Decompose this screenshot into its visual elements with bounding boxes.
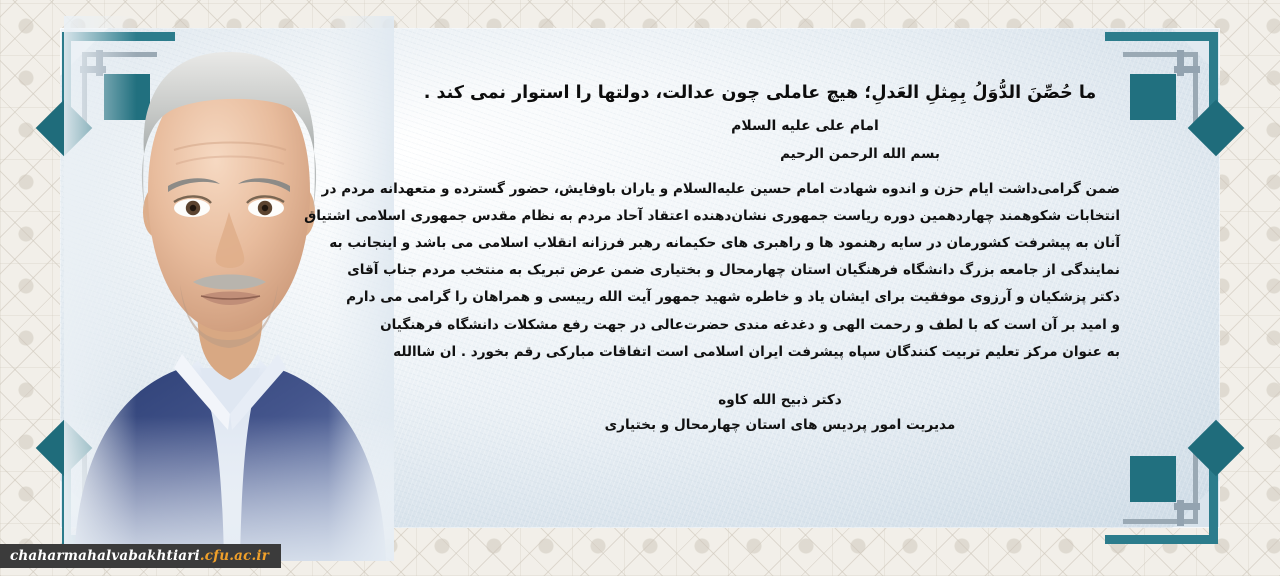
hadith-attribution: امام علی علیه السلام xyxy=(400,118,1120,134)
message-line: ضمن گرامی‌داشت ایام حزن و اندوه شهادت ام… xyxy=(400,176,1120,203)
message-line: نمایندگی از جامعه بزرگ دانشگاه فرهنگیان … xyxy=(400,257,1120,284)
message-body: ضمن گرامی‌داشت ایام حزن و اندوه شهادت ام… xyxy=(400,176,1120,366)
corner-bar-horizontal xyxy=(1174,503,1200,510)
hadith-quote: ما حُصِّنَ الدُّوَلُ بِمِثلِ العَدلِ؛ هی… xyxy=(400,82,1120,106)
website-url-badge[interactable]: chaharmahalvabakhtiari.cfu.ac.ir xyxy=(0,544,281,568)
message-line: و امید بر آن است که با لطف و رحمت الهی و… xyxy=(400,312,1120,339)
message-line: آنان به پیشرفت کشورمان در سایه رهنمود ها… xyxy=(400,230,1120,257)
corner-square xyxy=(1130,74,1176,120)
banner-root: ما حُصِّنَ الدُّوَلُ بِمِثلِ العَدلِ؛ هی… xyxy=(0,0,1280,576)
message-line: به عنوان مرکز تعلیم تربیت کنندگان سپاه پ… xyxy=(400,339,1120,366)
signature-block: دکتر ذبیح الله کاوه مدیریت امور پردیس ها… xyxy=(400,388,1120,438)
url-tld: .cfu.ac.ir xyxy=(200,548,269,564)
portrait-photo xyxy=(64,16,394,561)
message-line: دکتر پزشکیان و آرزوی موفقیت برای ایشان ی… xyxy=(400,284,1120,311)
signatory-name: دکتر ذبیح الله کاوه xyxy=(440,388,1120,413)
corner-square xyxy=(1130,456,1176,502)
message-line: انتخابات شکوهمند چهاردهمین دوره ریاست جم… xyxy=(400,203,1120,230)
corner-bar-horizontal xyxy=(1174,66,1200,73)
text-column: ما حُصِّنَ الدُّوَلُ بِمِثلِ العَدلِ؛ هی… xyxy=(400,40,1120,530)
signatory-role: مدیریت امور پردیس های استان چهارمحال و ب… xyxy=(440,413,1120,438)
basmala-line: بسم الله الرحمن الرحیم xyxy=(400,146,1120,162)
url-host: chaharmahalvabakhtiari xyxy=(10,548,200,564)
